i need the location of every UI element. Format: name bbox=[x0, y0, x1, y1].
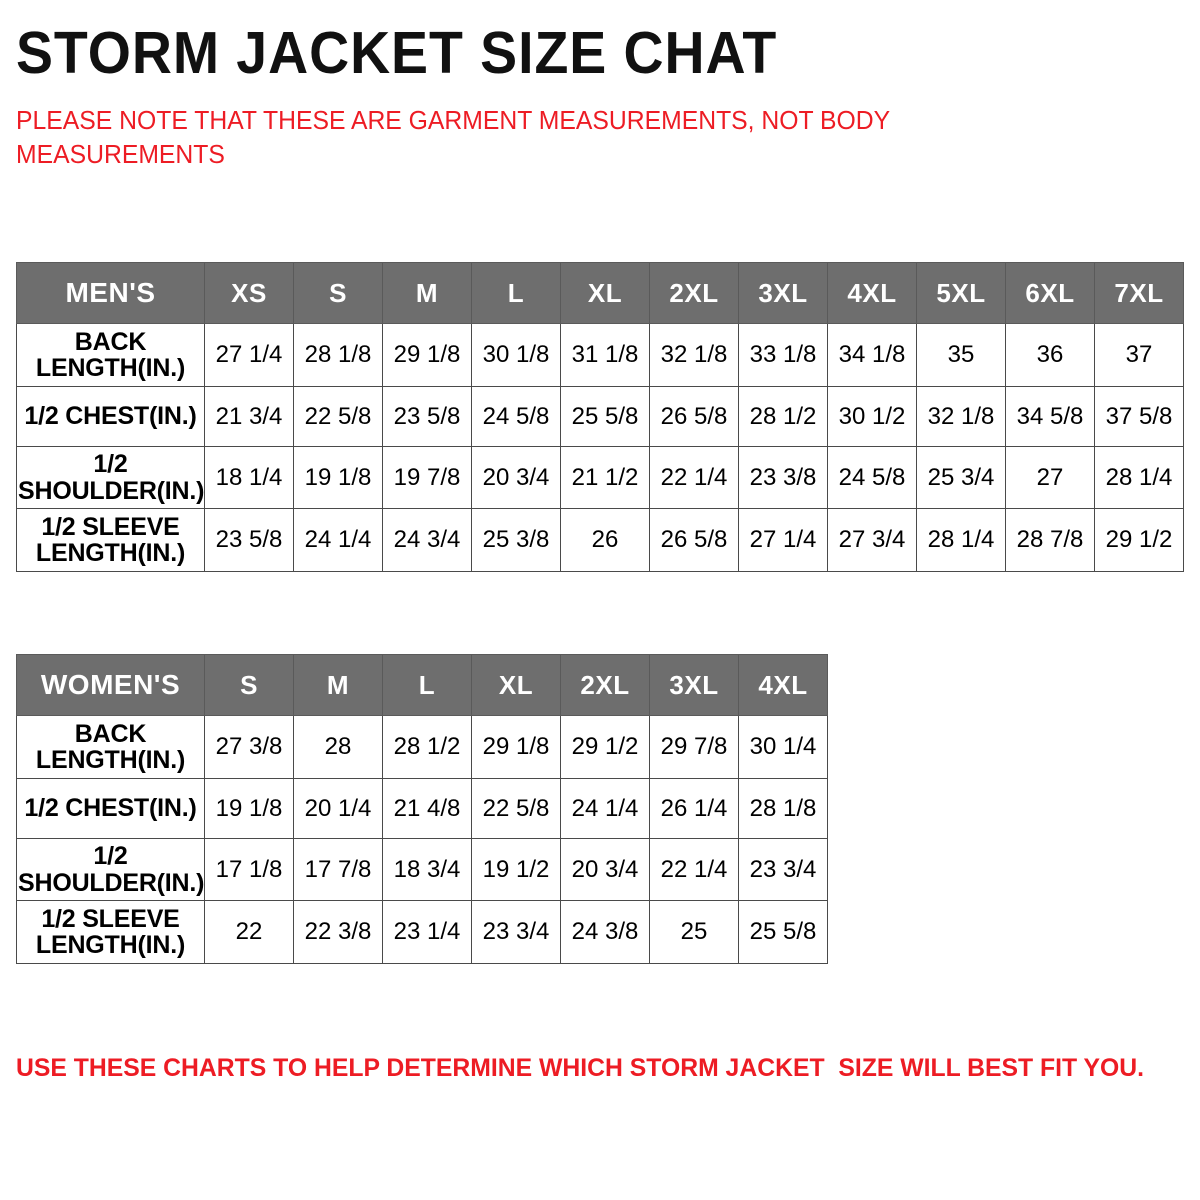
table-cell: 36 bbox=[1006, 324, 1095, 387]
womens-row-label-half-shoulder: 1/2 SHOULDER(IN.) bbox=[17, 839, 205, 901]
womens-size-header-xl: XL bbox=[472, 655, 561, 716]
mens-row-label-back-length: BACK LENGTH(IN.) bbox=[17, 324, 205, 387]
table-cell: 29 1/8 bbox=[472, 716, 561, 779]
mens-size-header-4xl: 4XL bbox=[828, 263, 917, 324]
table-cell: 28 1/8 bbox=[294, 324, 383, 387]
row-label-line-1: 1/2 SLEEVE bbox=[18, 514, 203, 541]
table-cell: 25 3/8 bbox=[472, 509, 561, 572]
table-cell: 30 1/8 bbox=[472, 324, 561, 387]
table-cell: 26 5/8 bbox=[650, 509, 739, 572]
table-cell: 30 1/4 bbox=[739, 716, 828, 779]
mens-size-header-m: M bbox=[383, 263, 472, 324]
table-cell: 23 1/4 bbox=[383, 901, 472, 964]
fit-guidance-note: USE THESE CHARTS TO HELP DETERMINE WHICH… bbox=[16, 1053, 1144, 1083]
row-label-line-1: 1/2 CHEST(IN.) bbox=[18, 795, 203, 822]
table-cell: 30 1/2 bbox=[828, 387, 917, 447]
table-cell: 24 3/8 bbox=[561, 901, 650, 964]
womens-size-table: WOMEN'S S M L XL 2XL 3XL 4XL BACK LENGTH… bbox=[16, 654, 828, 964]
mens-size-header-3xl: 3XL bbox=[739, 263, 828, 324]
table-cell: 22 5/8 bbox=[294, 387, 383, 447]
table-cell: 23 5/8 bbox=[205, 509, 294, 572]
mens-row-label-half-chest: 1/2 CHEST(IN.) bbox=[17, 387, 205, 447]
table-cell: 20 3/4 bbox=[472, 447, 561, 509]
table-cell: 28 1/2 bbox=[383, 716, 472, 779]
womens-table-body: BACK LENGTH(IN.) 27 3/8 28 28 1/2 29 1/8… bbox=[17, 716, 828, 964]
table-header-row: WOMEN'S S M L XL 2XL 3XL 4XL bbox=[17, 655, 828, 716]
table-row: 1/2 SHOULDER(IN.) 17 1/8 17 7/8 18 3/4 1… bbox=[17, 839, 828, 901]
womens-size-header-l: L bbox=[383, 655, 472, 716]
table-cell: 27 bbox=[1006, 447, 1095, 509]
table-cell: 22 5/8 bbox=[472, 779, 561, 839]
table-cell: 17 1/8 bbox=[205, 839, 294, 901]
table-cell: 32 1/8 bbox=[917, 387, 1006, 447]
womens-size-table-container: WOMEN'S S M L XL 2XL 3XL 4XL BACK LENGTH… bbox=[16, 654, 828, 964]
table-cell: 26 1/4 bbox=[650, 779, 739, 839]
row-label-line-1: 1/2 SLEEVE bbox=[18, 906, 203, 933]
womens-size-header-s: S bbox=[205, 655, 294, 716]
table-cell: 23 5/8 bbox=[383, 387, 472, 447]
mens-row-label-half-shoulder: 1/2 SHOULDER(IN.) bbox=[17, 447, 205, 509]
row-label-line-1: 1/2 CHEST(IN.) bbox=[18, 403, 203, 430]
table-row: 1/2 CHEST(IN.) 21 3/4 22 5/8 23 5/8 24 5… bbox=[17, 387, 1184, 447]
table-row: 1/2 SLEEVE LENGTH(IN.) 23 5/8 24 1/4 24 … bbox=[17, 509, 1184, 572]
table-cell: 19 1/8 bbox=[294, 447, 383, 509]
table-cell: 19 1/8 bbox=[205, 779, 294, 839]
mens-size-header-xl: XL bbox=[561, 263, 650, 324]
row-label-line-2: LENGTH(IN.) bbox=[18, 355, 203, 382]
table-cell: 22 1/4 bbox=[650, 447, 739, 509]
table-row: 1/2 SHOULDER(IN.) 18 1/4 19 1/8 19 7/8 2… bbox=[17, 447, 1184, 509]
mens-size-table: MEN'S XS S M L XL 2XL 3XL 4XL 5XL 6XL 7X… bbox=[16, 262, 1184, 572]
table-cell: 27 3/8 bbox=[205, 716, 294, 779]
table-cell: 22 3/8 bbox=[294, 901, 383, 964]
table-cell: 24 3/4 bbox=[383, 509, 472, 572]
row-label-line-1: 1/2 SHOULDER(IN.) bbox=[18, 843, 203, 896]
table-row: 1/2 SLEEVE LENGTH(IN.) 22 22 3/8 23 1/4 … bbox=[17, 901, 828, 964]
womens-row-label-half-sleeve-length: 1/2 SLEEVE LENGTH(IN.) bbox=[17, 901, 205, 964]
table-cell: 28 bbox=[294, 716, 383, 779]
womens-size-header-3xl: 3XL bbox=[650, 655, 739, 716]
mens-corner-header: MEN'S bbox=[17, 263, 205, 324]
womens-size-header-4xl: 4XL bbox=[739, 655, 828, 716]
garment-measurement-note: PLEASE NOTE THAT THESE ARE GARMENT MEASU… bbox=[16, 105, 947, 172]
table-cell: 25 3/4 bbox=[917, 447, 1006, 509]
table-cell: 31 1/8 bbox=[561, 324, 650, 387]
table-cell: 28 7/8 bbox=[1006, 509, 1095, 572]
table-cell: 35 bbox=[917, 324, 1006, 387]
table-cell: 20 3/4 bbox=[561, 839, 650, 901]
womens-table-header: WOMEN'S S M L XL 2XL 3XL 4XL bbox=[17, 655, 828, 716]
mens-size-header-2xl: 2XL bbox=[650, 263, 739, 324]
table-cell: 29 1/2 bbox=[1095, 509, 1184, 572]
row-label-line-2: LENGTH(IN.) bbox=[18, 747, 203, 774]
row-label-line-1: 1/2 SHOULDER(IN.) bbox=[18, 451, 203, 504]
table-cell: 25 bbox=[650, 901, 739, 964]
table-cell: 25 5/8 bbox=[739, 901, 828, 964]
table-cell: 28 1/2 bbox=[739, 387, 828, 447]
table-cell: 22 bbox=[205, 901, 294, 964]
table-cell: 24 5/8 bbox=[472, 387, 561, 447]
table-cell: 28 1/8 bbox=[739, 779, 828, 839]
mens-size-header-xs: XS bbox=[205, 263, 294, 324]
mens-row-label-half-sleeve-length: 1/2 SLEEVE LENGTH(IN.) bbox=[17, 509, 205, 572]
table-cell: 27 1/4 bbox=[739, 509, 828, 572]
row-label-line-2: LENGTH(IN.) bbox=[18, 932, 203, 959]
table-cell: 29 1/2 bbox=[561, 716, 650, 779]
size-chart-page: STORM JACKET SIZE CHAT PLEASE NOTE THAT … bbox=[0, 0, 1200, 1200]
table-cell: 27 3/4 bbox=[828, 509, 917, 572]
table-cell: 29 1/8 bbox=[383, 324, 472, 387]
mens-table-body: BACK LENGTH(IN.) 27 1/4 28 1/8 29 1/8 30… bbox=[17, 324, 1184, 572]
table-cell: 33 1/8 bbox=[739, 324, 828, 387]
table-row: BACK LENGTH(IN.) 27 3/8 28 28 1/2 29 1/8… bbox=[17, 716, 828, 779]
table-cell: 24 1/4 bbox=[561, 779, 650, 839]
table-cell: 37 5/8 bbox=[1095, 387, 1184, 447]
mens-size-header-6xl: 6XL bbox=[1006, 263, 1095, 324]
womens-row-label-back-length: BACK LENGTH(IN.) bbox=[17, 716, 205, 779]
table-cell: 18 3/4 bbox=[383, 839, 472, 901]
mens-size-header-7xl: 7XL bbox=[1095, 263, 1184, 324]
row-label-line-2: LENGTH(IN.) bbox=[18, 540, 203, 567]
page-title: STORM JACKET SIZE CHAT bbox=[16, 0, 1114, 83]
table-cell: 19 1/2 bbox=[472, 839, 561, 901]
mens-table-header: MEN'S XS S M L XL 2XL 3XL 4XL 5XL 6XL 7X… bbox=[17, 263, 1184, 324]
womens-size-header-2xl: 2XL bbox=[561, 655, 650, 716]
mens-size-header-l: L bbox=[472, 263, 561, 324]
table-cell: 23 3/4 bbox=[739, 839, 828, 901]
table-cell: 28 1/4 bbox=[917, 509, 1006, 572]
table-cell: 24 1/4 bbox=[294, 509, 383, 572]
table-header-row: MEN'S XS S M L XL 2XL 3XL 4XL 5XL 6XL 7X… bbox=[17, 263, 1184, 324]
table-cell: 21 4/8 bbox=[383, 779, 472, 839]
table-cell: 21 3/4 bbox=[205, 387, 294, 447]
mens-size-header-5xl: 5XL bbox=[917, 263, 1006, 324]
table-cell: 37 bbox=[1095, 324, 1184, 387]
table-cell: 32 1/8 bbox=[650, 324, 739, 387]
table-cell: 21 1/2 bbox=[561, 447, 650, 509]
table-cell: 23 3/4 bbox=[472, 901, 561, 964]
table-cell: 34 5/8 bbox=[1006, 387, 1095, 447]
row-label-line-1: BACK bbox=[18, 721, 203, 748]
mens-size-header-s: S bbox=[294, 263, 383, 324]
table-cell: 34 1/8 bbox=[828, 324, 917, 387]
table-cell: 27 1/4 bbox=[205, 324, 294, 387]
table-row: 1/2 CHEST(IN.) 19 1/8 20 1/4 21 4/8 22 5… bbox=[17, 779, 828, 839]
row-label-line-1: BACK bbox=[18, 329, 203, 356]
table-cell: 19 7/8 bbox=[383, 447, 472, 509]
table-cell: 17 7/8 bbox=[294, 839, 383, 901]
table-cell: 28 1/4 bbox=[1095, 447, 1184, 509]
womens-corner-header: WOMEN'S bbox=[17, 655, 205, 716]
table-cell: 25 5/8 bbox=[561, 387, 650, 447]
table-cell: 22 1/4 bbox=[650, 839, 739, 901]
table-cell: 26 bbox=[561, 509, 650, 572]
table-cell: 26 5/8 bbox=[650, 387, 739, 447]
table-cell: 29 7/8 bbox=[650, 716, 739, 779]
table-cell: 20 1/4 bbox=[294, 779, 383, 839]
womens-size-header-m: M bbox=[294, 655, 383, 716]
mens-size-table-container: MEN'S XS S M L XL 2XL 3XL 4XL 5XL 6XL 7X… bbox=[16, 262, 1184, 572]
table-cell: 23 3/8 bbox=[739, 447, 828, 509]
table-cell: 24 5/8 bbox=[828, 447, 917, 509]
womens-row-label-half-chest: 1/2 CHEST(IN.) bbox=[17, 779, 205, 839]
table-row: BACK LENGTH(IN.) 27 1/4 28 1/8 29 1/8 30… bbox=[17, 324, 1184, 387]
table-cell: 18 1/4 bbox=[205, 447, 294, 509]
